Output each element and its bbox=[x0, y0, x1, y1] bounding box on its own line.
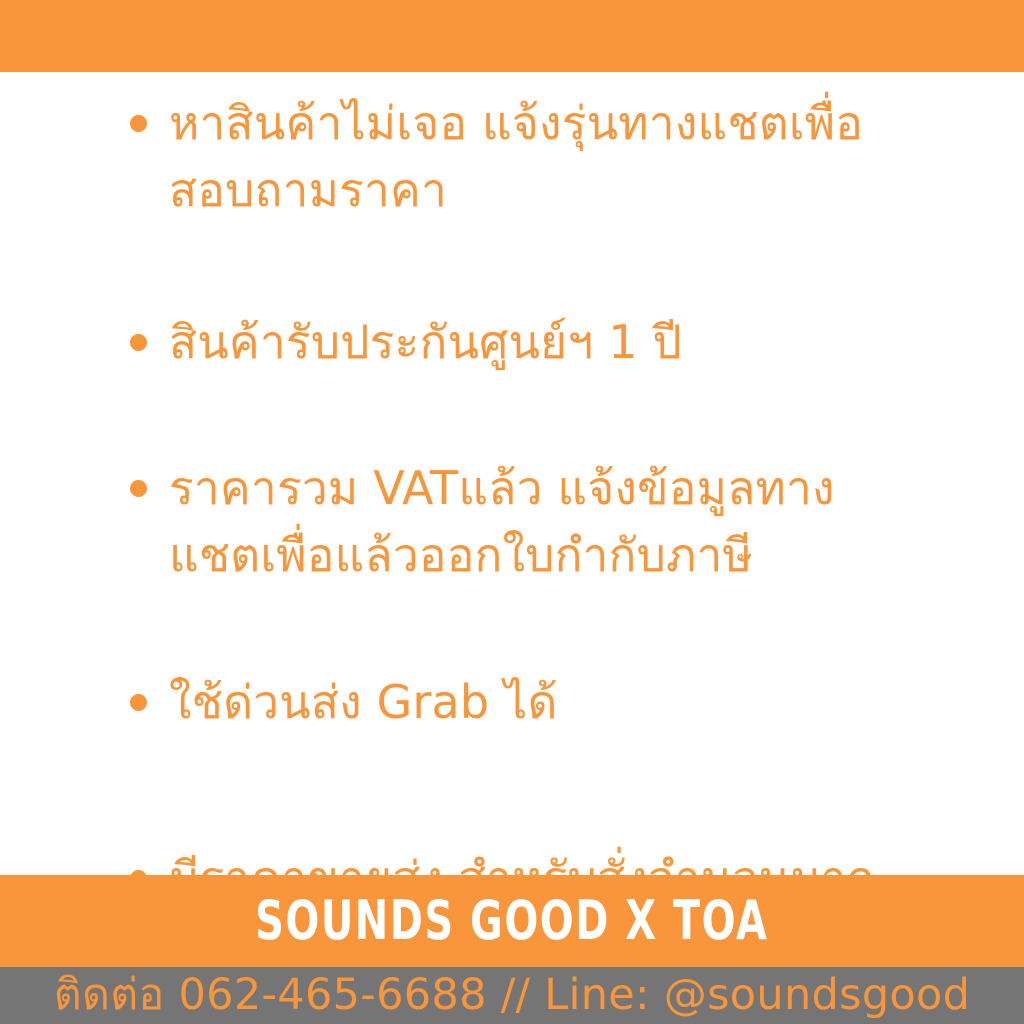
list-item: ราคารวม VATแล้ว แจ้งข้อมูลทาง แชตเพื่อแล… bbox=[130, 455, 930, 589]
benefits-bullet-list: หาสินค้าไม่เจอ แจ้งรุ่นทางแชตเพื่อ สอบถา… bbox=[0, 72, 1024, 875]
bullet-item-label: ราคารวม VATแล้ว แจ้งข้อมูลทาง แชตเพื่อแล… bbox=[169, 455, 930, 589]
list-item: สินค้ารับประกันศูนย์ฯ 1 ปี bbox=[130, 309, 930, 376]
bullet-dot-icon bbox=[130, 334, 147, 351]
list-item: ใช้ด่วนส่ง Grab ได้ bbox=[130, 669, 930, 736]
contact-info-label: ติดต่อ 062-465-6688 // Line: @soundsgood bbox=[54, 974, 970, 1017]
bullet-dot-icon bbox=[130, 694, 147, 711]
list-item: หาสินค้าไม่เจอ แจ้งรุ่นทางแชตเพื่อ สอบถา… bbox=[130, 90, 930, 224]
brand-banner: SOUNDS GOOD X TOA bbox=[0, 875, 1024, 967]
brand-title: SOUNDS GOOD X TOA bbox=[255, 894, 768, 948]
bullet-item-label: สินค้ารับประกันศูนย์ฯ 1 ปี bbox=[169, 309, 930, 376]
promo-card: หาสินค้าไม่เจอ แจ้งรุ่นทางแชตเพื่อ สอบถา… bbox=[0, 0, 1024, 1024]
contact-bar: ติดต่อ 062-465-6688 // Line: @soundsgood bbox=[0, 967, 1024, 1024]
top-orange-band bbox=[0, 0, 1024, 72]
bullet-dot-icon bbox=[130, 115, 147, 132]
bullet-item-label: ใช้ด่วนส่ง Grab ได้ bbox=[169, 669, 930, 736]
bullet-item-label: หาสินค้าไม่เจอ แจ้งรุ่นทางแชตเพื่อ สอบถา… bbox=[169, 90, 930, 224]
bullet-dot-icon bbox=[130, 480, 147, 497]
